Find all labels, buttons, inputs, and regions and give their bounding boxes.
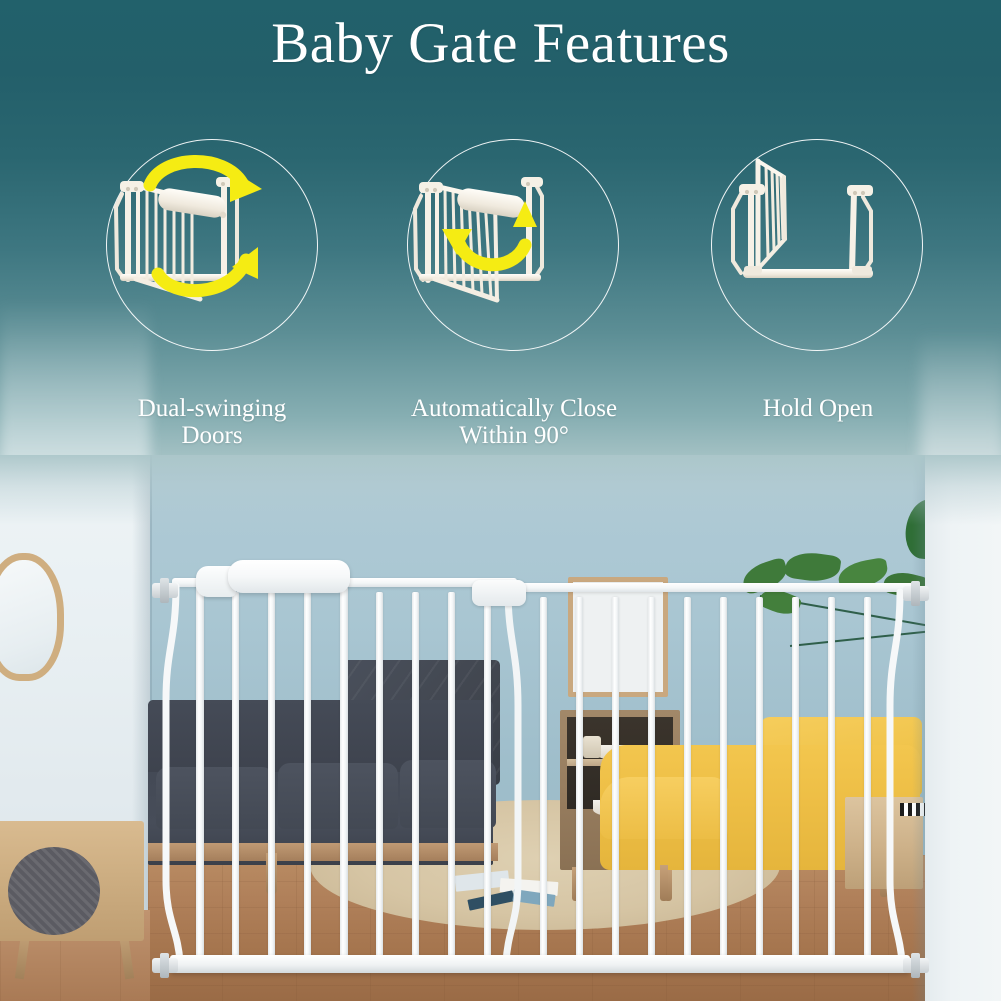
gate-bar bbox=[340, 587, 348, 960]
gate-bar bbox=[648, 597, 655, 960]
gate-bar bbox=[828, 597, 835, 960]
baby-gate bbox=[0, 0, 1001, 546]
gate-bar bbox=[412, 592, 419, 960]
gate-bar bbox=[720, 597, 727, 960]
gate-bar bbox=[576, 597, 583, 960]
infographic-root: Baby Gate Features bbox=[0, 0, 1001, 1001]
gate-bar bbox=[756, 597, 763, 960]
gate-auto-close-cylinder[interactable] bbox=[228, 560, 350, 593]
gate-center-hinge bbox=[472, 580, 526, 606]
gate-bar bbox=[304, 592, 311, 960]
gate-bar bbox=[540, 597, 547, 960]
wall-mount-bottom-left bbox=[152, 958, 178, 973]
gate-bar bbox=[448, 592, 455, 960]
gate-threshold-bar bbox=[170, 955, 910, 973]
gate-bar bbox=[268, 592, 275, 960]
wall-mount-top-right bbox=[903, 586, 929, 601]
gate-side-frames bbox=[0, 0, 1001, 1001]
gate-bar bbox=[612, 597, 619, 960]
gate-bar bbox=[792, 597, 799, 960]
wall-mount-bottom-right bbox=[903, 958, 929, 973]
gate-bar bbox=[864, 597, 871, 960]
gate-bar bbox=[196, 585, 204, 960]
wall-mount-top-left bbox=[152, 583, 178, 598]
gate-bar bbox=[376, 592, 383, 960]
gate-bar bbox=[232, 592, 239, 960]
gate-bar bbox=[684, 597, 691, 960]
gate-bar bbox=[484, 592, 491, 960]
